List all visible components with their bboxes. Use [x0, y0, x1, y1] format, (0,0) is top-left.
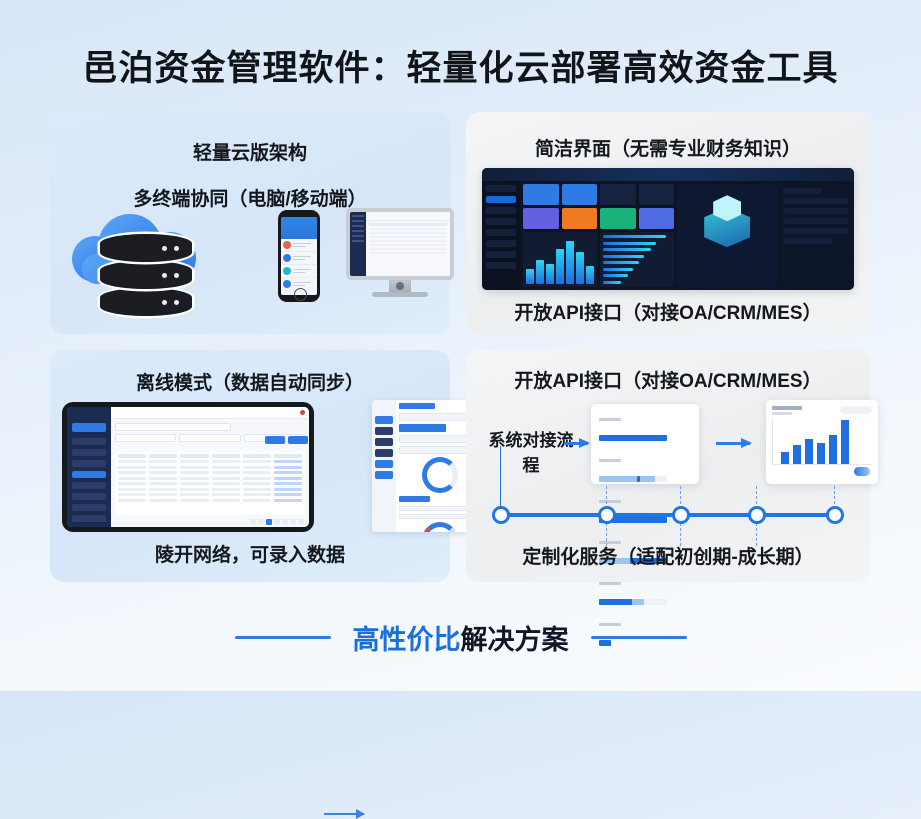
panel-bl-heading: 离线模式（数据自动同步）	[50, 368, 450, 395]
tablet-table	[115, 451, 305, 515]
desktop-monitor-mockup	[346, 208, 454, 304]
footer-text: 高性价比解决方案	[353, 618, 569, 657]
dashboard-hbar-chart	[600, 232, 674, 287]
panel-tr-footer: 开放API接口（对接OA/CRM/MES）	[466, 298, 870, 325]
timeline-node-1[interactable]	[492, 506, 510, 524]
tablet-sidebar	[67, 407, 111, 527]
tablet-filter-row	[111, 419, 309, 449]
flow-arrow-card1-to-card2	[716, 442, 750, 445]
home-button-icon	[294, 288, 307, 301]
tablet-action-buttons[interactable]	[265, 436, 308, 444]
donut-chart-2	[422, 522, 458, 532]
tablet-data-table-mockup	[62, 402, 314, 532]
timeline-node-5[interactable]	[826, 506, 844, 524]
panel-bl-footer: 陵开网络，可录入数据	[50, 540, 450, 567]
mobile-phone-mockup	[278, 210, 320, 302]
panel-open-api: 开放API接口（对接OA/CRM/MES） 系统对接流程	[466, 350, 870, 582]
dashboard-right-panel	[780, 184, 851, 287]
cloud-database-icon	[70, 212, 240, 324]
panel-tr-heading: 简洁界面（无需专业财务知识）	[466, 134, 870, 161]
panel-offline-mode: 离线模式（数据自动同步）	[50, 350, 450, 582]
footer-rule-right	[591, 636, 687, 639]
panel-br-footer: 定制化服务（适配初创期-成长期）	[466, 542, 870, 569]
donut-chart-1	[422, 457, 458, 493]
tablet-pagination[interactable]	[111, 517, 309, 527]
dashboard-sidebar	[482, 168, 520, 290]
api-progress-card	[591, 404, 699, 484]
flow-arrow-tablet-to-detail	[324, 813, 364, 815]
footer-banner: 高性价比解决方案	[0, 618, 921, 657]
tablet-topbar	[111, 407, 309, 419]
panel-lightweight-cloud: 轻量云版架构 多终端协同（电脑/移动端）	[50, 112, 450, 334]
api-column-chart	[772, 418, 872, 465]
slide-root: 邑泊资金管理软件：轻量化云部署高效资金工具 轻量云版架构 多终端协同（电脑/移动…	[0, 0, 921, 691]
panel-simple-interface: 简洁界面（无需专业财务知识）	[466, 112, 870, 334]
dashboard-bar-chart	[523, 232, 597, 287]
dark-dashboard-screenshot	[482, 168, 854, 290]
apple-logo-icon	[396, 282, 404, 290]
database-icon	[100, 234, 192, 322]
footer-text-highlight: 高性价比	[353, 625, 461, 655]
dashboard-hexagon-graphic	[677, 184, 777, 287]
footer-rule-left	[235, 636, 331, 639]
timeline-line	[492, 513, 844, 517]
timeline-node-2[interactable]	[598, 506, 616, 524]
page-title: 邑泊资金管理软件：轻量化云部署高效资金工具	[0, 40, 921, 91]
timeline-connector-1	[500, 446, 501, 510]
timeline-node-3[interactable]	[672, 506, 690, 524]
panel-tl-subheading: 多终端协同（电脑/移动端）	[50, 184, 450, 211]
cursor-icon	[854, 467, 870, 476]
timeline-node-4[interactable]	[748, 506, 766, 524]
footer-text-rest: 解决方案	[461, 625, 569, 655]
panel-br-heading: 开放API接口（对接OA/CRM/MES）	[466, 366, 870, 393]
dashboard-tiles	[523, 184, 674, 229]
api-chart-card	[766, 400, 878, 484]
flow-arrow-label-to-card1	[564, 442, 588, 445]
panel-tl-heading: 轻量云版架构	[50, 138, 450, 165]
